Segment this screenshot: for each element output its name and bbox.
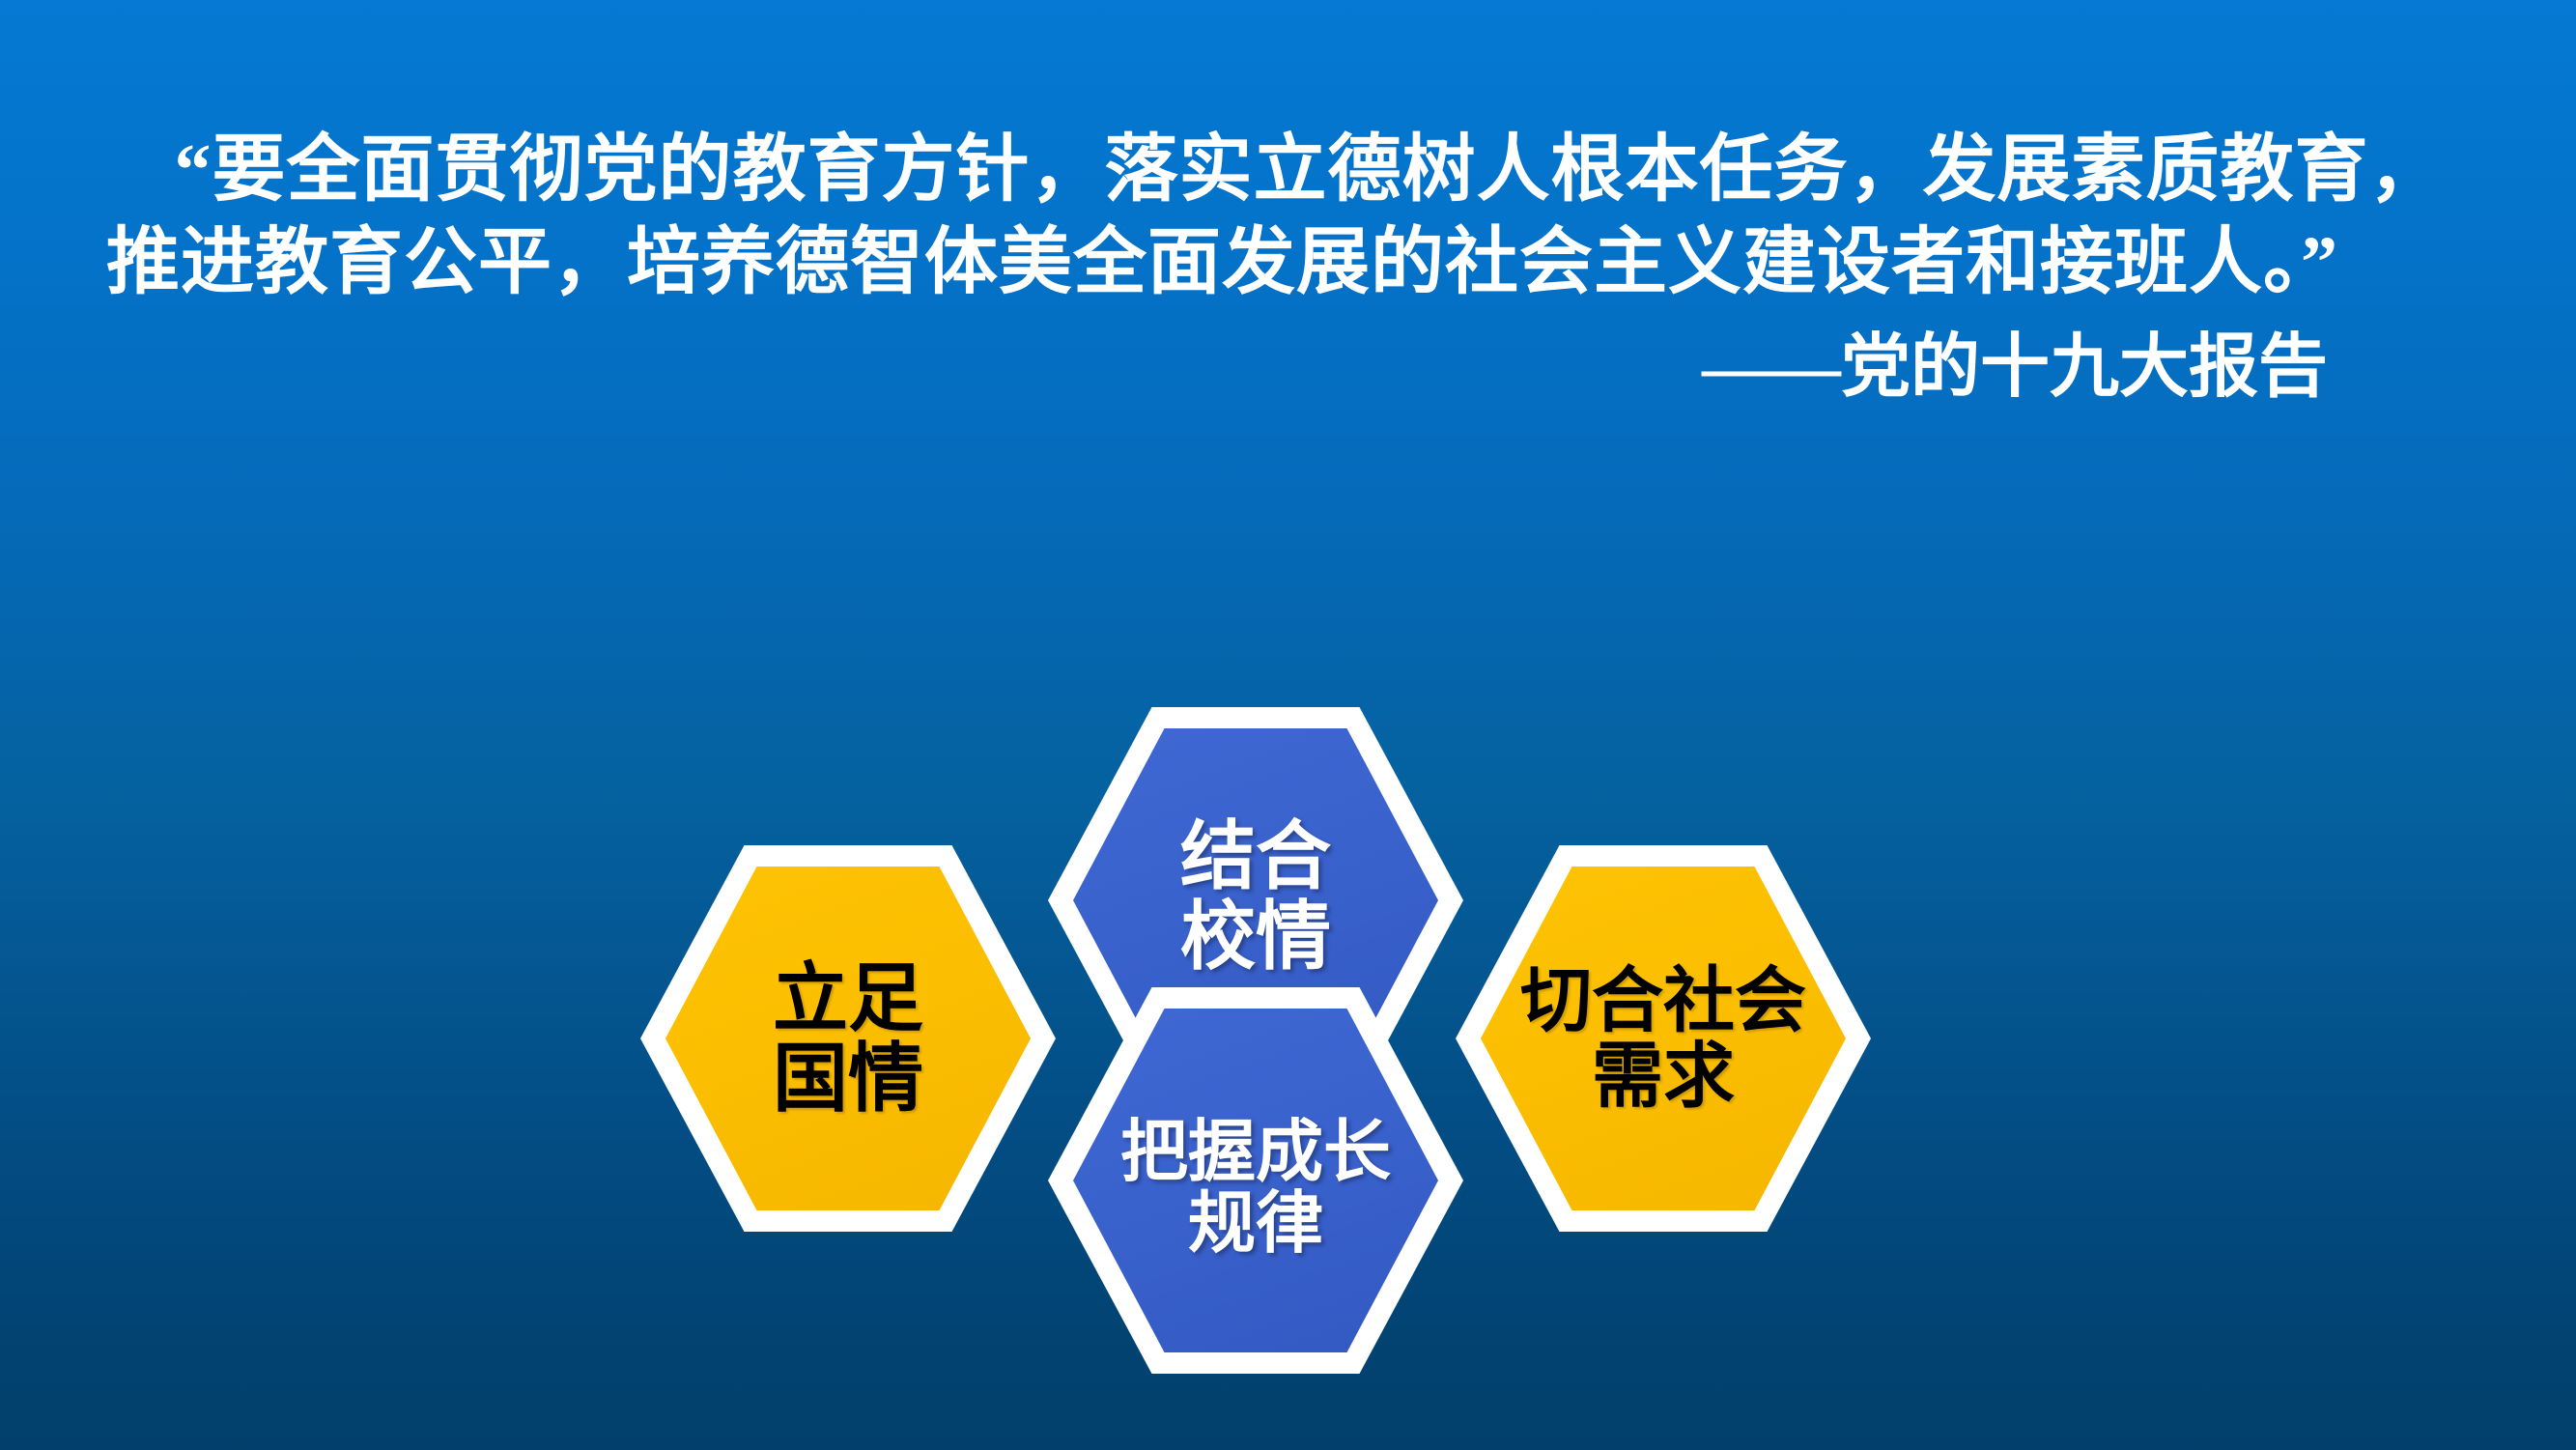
hexagon-diagram: 立足 国情 结合 校情 把握成长 规律 切合社会 需求 [0,0,2576,1450]
hexagon-node-left[interactable]: 立足 国情 [640,845,1056,1232]
hexagon-node-right[interactable]: 切合社会 需求 [1456,845,1871,1232]
hexagon-node-bottom[interactable]: 把握成长 规律 [1048,987,1463,1374]
presentation-slide: “要全面贯彻党的教育方针，落实立德树人根本任务，发展素质教育， 推进教育公平，培… [0,0,2576,1450]
